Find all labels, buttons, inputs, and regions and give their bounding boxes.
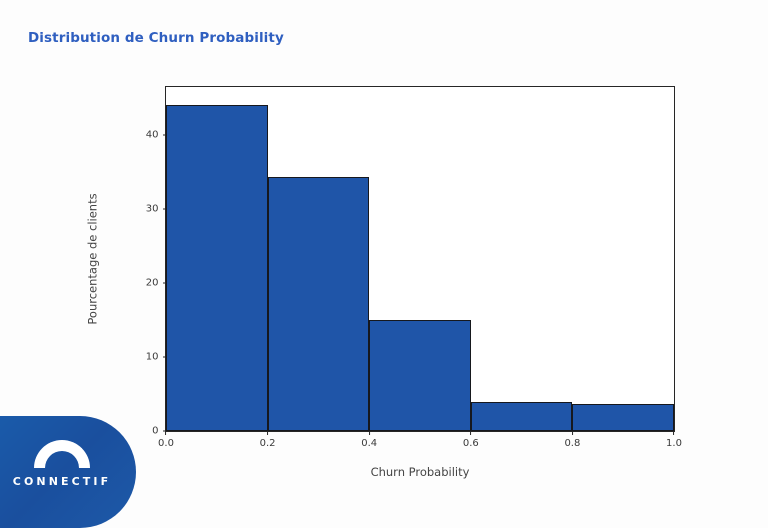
x-axis-tick-label: 0.6 (463, 438, 479, 449)
plot-area: 010203040 0.00.20.40.60.81.0 (165, 86, 675, 432)
histogram-bar (268, 177, 370, 431)
x-axis-tick-mark (166, 431, 167, 435)
y-axis-tick: 10 (146, 352, 166, 363)
x-axis-tick-label: 1.0 (666, 438, 682, 449)
brand-name: CONNECTIF (12, 475, 112, 488)
y-axis-tick-label: 20 (146, 278, 159, 289)
x-axis-tick-mark (267, 431, 268, 435)
x-axis-title: Churn Probability (165, 465, 675, 479)
x-axis-tick: 0.2 (260, 431, 276, 449)
y-axis-title: Pourcentage de clients (84, 86, 102, 432)
x-axis-tick: 0.8 (564, 431, 580, 449)
histogram-bar (166, 105, 268, 431)
arch-icon (34, 440, 90, 468)
y-axis-tick-mark (163, 135, 167, 136)
y-axis-tick-label: 30 (146, 204, 159, 215)
y-axis-title-text: Pourcentage de clients (86, 193, 100, 324)
x-axis-tick-mark (572, 431, 573, 435)
y-axis-tick-label: 40 (146, 130, 159, 141)
x-axis-tick-label: 0.8 (564, 438, 580, 449)
histogram-bar (369, 320, 471, 431)
x-axis-tick: 0.0 (158, 431, 174, 449)
x-axis-tick-mark (470, 431, 471, 435)
x-axis-tick-label: 0.2 (260, 438, 276, 449)
y-axis-tick: 20 (146, 278, 166, 289)
x-axis-tick: 0.4 (361, 431, 377, 449)
y-axis-tick-mark (163, 209, 167, 210)
y-axis-tick-mark (163, 357, 167, 358)
x-axis-tick-label: 0.4 (361, 438, 377, 449)
x-axis-tick: 1.0 (666, 431, 682, 449)
y-axis-tick-mark (163, 283, 167, 284)
x-axis-tick-mark (369, 431, 370, 435)
y-axis-tick: 40 (146, 130, 166, 141)
brand-logo-inner: CONNECTIF (12, 440, 112, 488)
bars-layer (166, 87, 674, 431)
x-axis-tick: 0.6 (463, 431, 479, 449)
x-axis-tick-mark (674, 431, 675, 435)
y-axis-tick: 30 (146, 204, 166, 215)
brand-logo: CONNECTIF (0, 416, 136, 528)
histogram-bar (471, 402, 573, 431)
histogram-bar (572, 404, 674, 431)
x-axis-tick-label: 0.0 (158, 438, 174, 449)
y-axis-tick-label: 10 (146, 352, 159, 363)
